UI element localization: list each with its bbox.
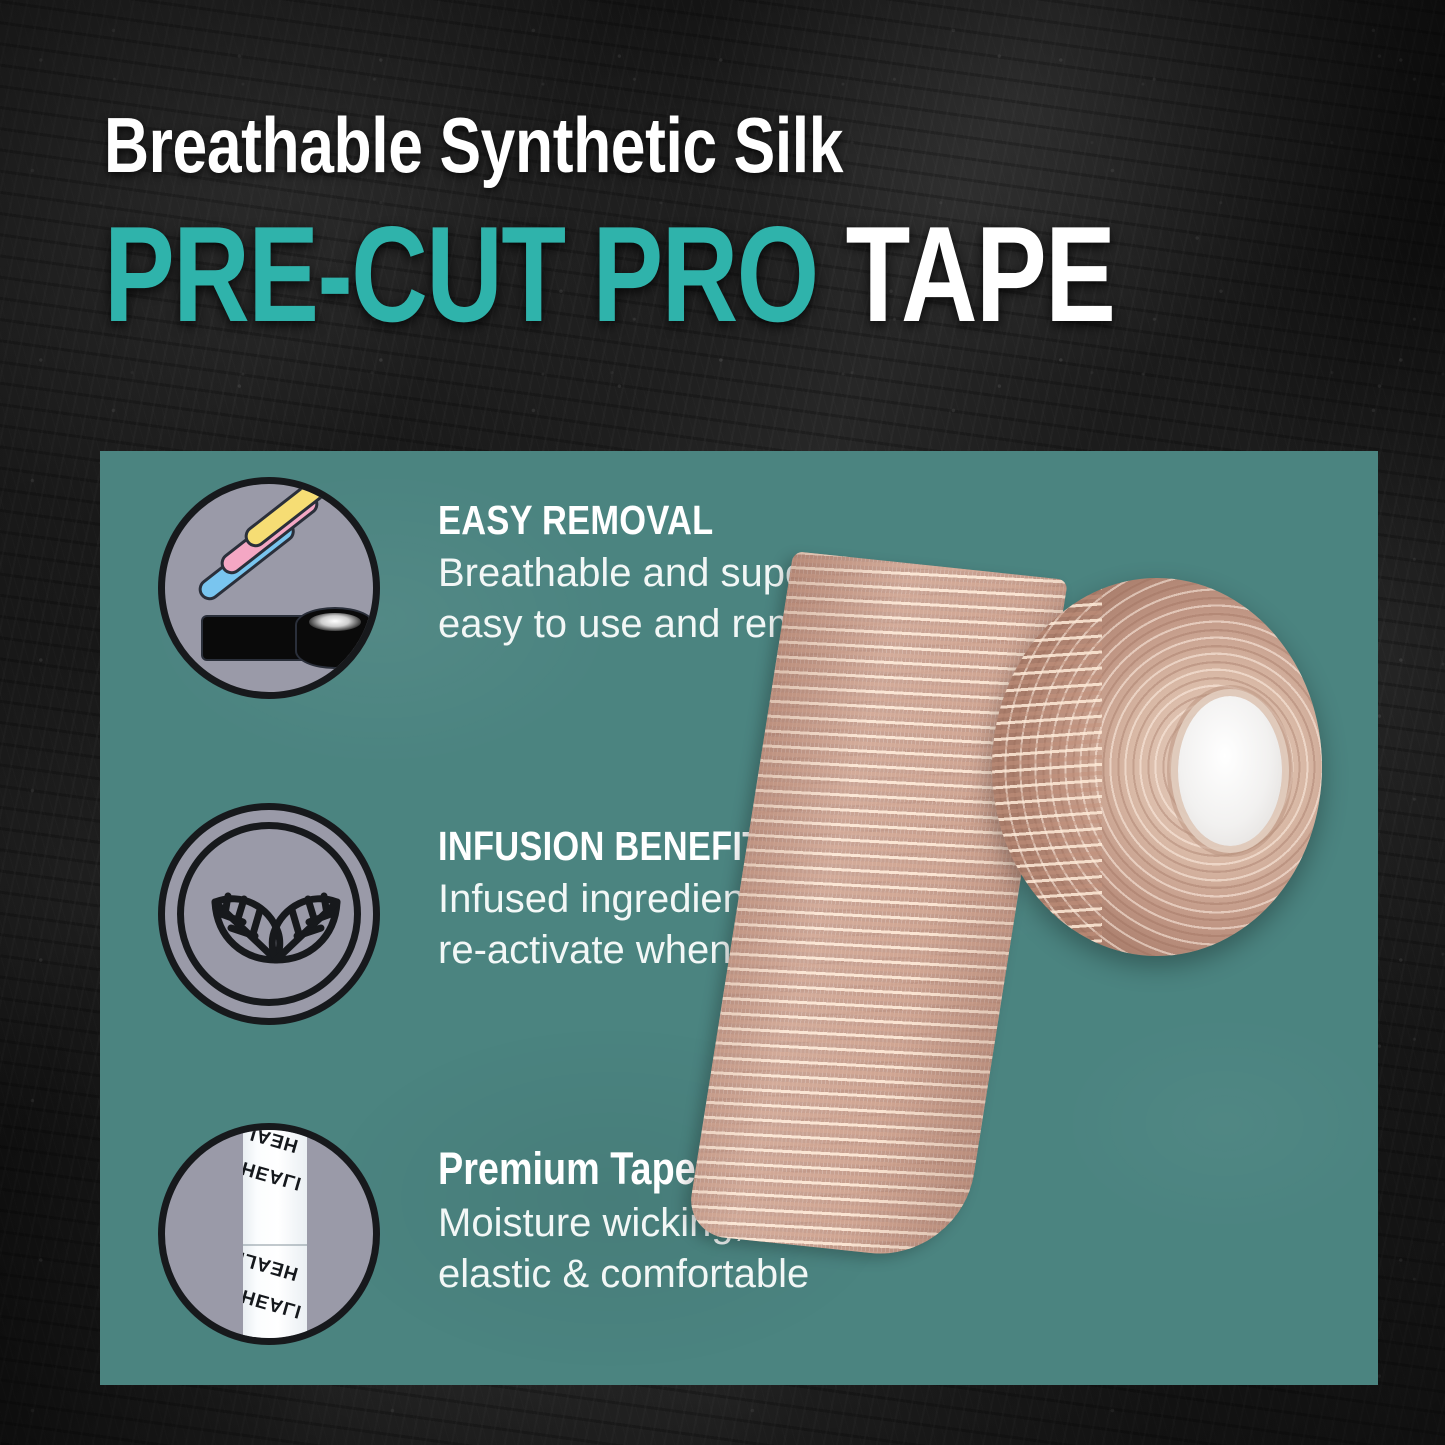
- headline-title: PRE-CUT PRO TAPE: [104, 206, 915, 342]
- kinesiology-tape-roll-photo: [760, 560, 1378, 1320]
- product-infographic: Breathable Synthetic Silk PRE-CUT PRO TA…: [0, 0, 1445, 1445]
- tape-seam-line: [243, 1244, 307, 1246]
- tape-roll-side-icon: [203, 617, 311, 659]
- brand-text: HEALI: [243, 1246, 301, 1284]
- tape-strips-and-rolls-icon: [158, 477, 380, 699]
- tape-backing-strip: HEALI HEALI HEALI HEALI: [243, 1123, 307, 1345]
- tape-roll-front-icon: [297, 609, 373, 667]
- brand-text: HEALI: [243, 1284, 305, 1322]
- brand-text: HEALI: [243, 1123, 301, 1156]
- heali-tape-strip-icon: HEALI HEALI HEALI HEALI: [158, 1123, 380, 1345]
- feature-panel: EASY REMOVAL Breathable and super easy t…: [100, 451, 1378, 1385]
- feature-title: EASY REMOVAL: [438, 499, 797, 542]
- feature-row-easy-removal: EASY REMOVAL Breathable and super easy t…: [158, 477, 865, 699]
- brand-text: HEALI: [243, 1156, 305, 1194]
- two-leaves-icon: [158, 803, 380, 1025]
- tape-roll-edge-weave: [992, 578, 1102, 956]
- leaf-glyph: [165, 810, 373, 1018]
- headline-accent-text: PRE-CUT PRO: [104, 198, 818, 350]
- tape-roll-core: [1178, 696, 1282, 846]
- tape-roll-body: [992, 578, 1322, 956]
- feature-title: INFUSION BENEFITS: [438, 825, 787, 868]
- headline-subtitle: Breathable Synthetic Silk: [104, 106, 936, 184]
- tape-strip-yellow-icon: [240, 477, 347, 552]
- headline-plain-text: TAPE: [846, 198, 1115, 350]
- headline-block: Breathable Synthetic Silk PRE-CUT PRO TA…: [104, 106, 1144, 342]
